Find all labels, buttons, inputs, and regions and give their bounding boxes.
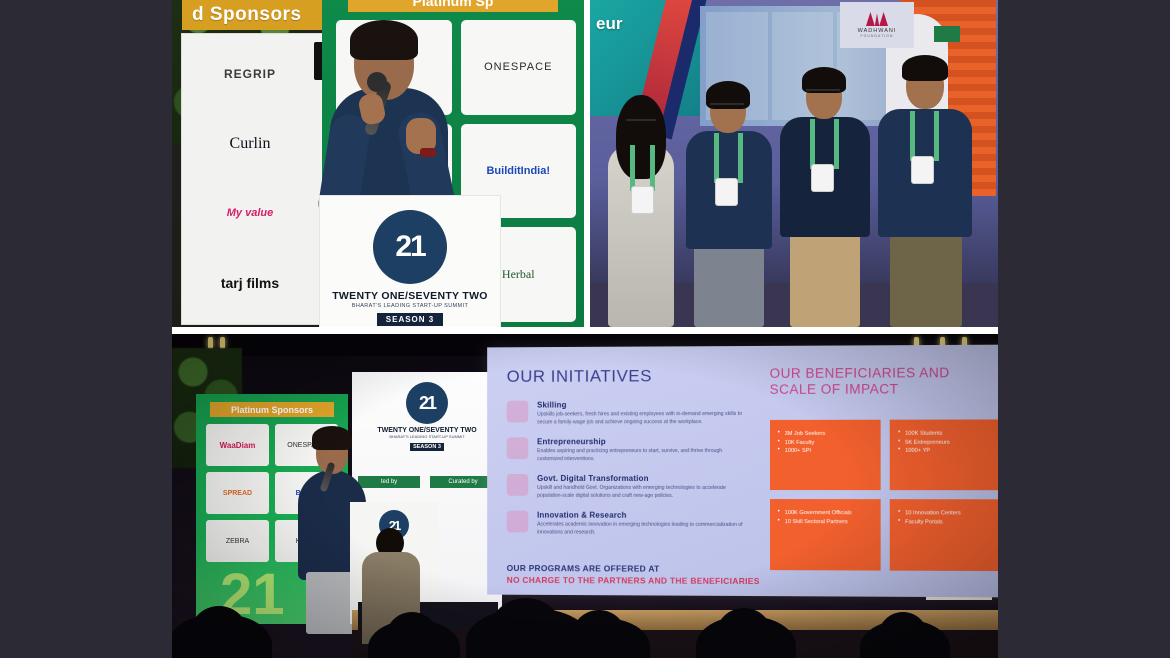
platinum-sponsor-title: Platinum Sponsors (210, 402, 334, 417)
person-2 (682, 73, 774, 327)
person-3 (776, 63, 872, 327)
person-4-lanyard-right (934, 111, 939, 161)
person-2-legs (694, 243, 764, 327)
banner-strip-right: Curated by (430, 476, 496, 488)
sponsor-card-3: SPREAD (206, 472, 269, 514)
slide-heading-initiatives: OUR INITIATIVES (507, 366, 748, 387)
person-3-lanyard-right (834, 119, 839, 169)
beneficiary-item: 10 Innovation Centers (898, 510, 994, 519)
beneficiary-item: 100K Government Officials (778, 509, 873, 518)
wristwatch-icon (420, 148, 436, 157)
initiative-body: Innovation & Research Accelerates academ… (537, 511, 748, 537)
person-1-lanyard-left (630, 145, 635, 191)
beneficiary-box-1: 3M Job Seekers 10K Faculty 1000+ SPI (770, 420, 881, 491)
person-1-hair (616, 95, 666, 179)
green-badge-decor (934, 26, 960, 42)
sponsor-logo-my-value: My value (190, 181, 310, 247)
person-2-lanyard-left (714, 133, 719, 183)
speaker-hair (312, 426, 352, 450)
beneficiary-list: 100K Government Officials 10 Skill Secto… (778, 509, 873, 527)
person-4 (874, 55, 974, 327)
slide-right-column: OUR BENEFICIARIES AND SCALE OF IMPACT 3M… (760, 345, 998, 598)
sponsor-logo-regrip: REGRIP (190, 42, 310, 108)
microphone-head-icon (367, 72, 387, 92)
audience-shoulder-silhouette (172, 614, 272, 658)
slide-heading-beneficiaries-line1: OUR BENEFICIARIES AND (770, 365, 998, 382)
person-4-badge (912, 157, 933, 183)
initiative-body: Govt. Digital Transformation Upskill and… (537, 474, 748, 500)
speaker-hair (350, 20, 418, 60)
sponsor-logo-tarj-films: tarj films (190, 251, 310, 317)
innovation-research-icon (507, 511, 529, 533)
person-3-lanyard-left (810, 119, 815, 169)
person-4-hair (902, 55, 948, 81)
sponsor-card-1: WaaDiam (206, 424, 269, 466)
photo-audience-presentation: Platinum Sponsors WaaDiam ONESPACE SPREA… (172, 334, 998, 658)
collage-top-row: d Sponsors REGRIP DECIM.L Curlin Lexicon… (172, 0, 998, 327)
beneficiary-list: 3M Job Seekers 10K Faculty 1000+ SPI (778, 430, 873, 456)
skilling-icon (507, 401, 529, 423)
person-1 (602, 87, 680, 327)
sponsor-logo-curlin: Curlin (190, 112, 310, 178)
audience-area (172, 562, 998, 658)
wadhwani-foundation-logo: WADHWANI FOUNDATION (840, 2, 914, 48)
slide-heading-beneficiaries-line2: SCALE OF IMPACT (770, 381, 998, 398)
person-3-glasses-icon (806, 89, 840, 96)
event-logo-line1: TWENTY ONE/SEVENTY TWO (352, 427, 502, 434)
initiative-desc: Enables aspiring and practicing entrepre… (537, 448, 748, 463)
initiative-item: Skilling Upskills job-seekers, fresh hir… (507, 400, 748, 427)
initiative-desc: Accelerates academic innovation in emerg… (537, 522, 748, 538)
event-logo-mark: 21 (406, 382, 448, 424)
person-2-glasses-icon (710, 103, 744, 110)
slide-columns: OUR INITIATIVES Skilling Upskills job-se… (487, 345, 998, 598)
initiative-title: Skilling (537, 400, 748, 410)
beneficiary-list: 10 Innovation Centers Faculty Portals (898, 510, 994, 528)
photo-collage: d Sponsors REGRIP DECIM.L Curlin Lexicon… (172, 0, 998, 658)
person-2-badge (716, 179, 737, 205)
initiative-title: Govt. Digital Transformation (537, 474, 748, 483)
sponsor-card-5: ZEBRA (206, 520, 269, 562)
screenshot-canvas: d Sponsors REGRIP DECIM.L Curlin Lexicon… (0, 0, 1170, 658)
beneficiary-item: 10K Faculty (778, 438, 873, 447)
podium: 21 TWENTY ONE/SEVENTY TWO BHARAT'S LEADI… (320, 196, 500, 327)
person-1-glasses-icon (626, 119, 656, 126)
beneficiary-item: 1000+ SPI (778, 447, 873, 456)
sponsor-card-onespace: ONESPACE (461, 20, 577, 115)
beneficiary-list: 100K Students 5K Entrepreneurs 1000+ YP (898, 429, 994, 455)
initiative-title: Entrepreneurship (537, 437, 748, 446)
entrepreneurship-icon (507, 437, 529, 459)
beneficiary-item: 10 Skill Sectoral Partners (778, 518, 873, 527)
wadhwani-subtitle: FOUNDATION (861, 34, 894, 38)
event-logo-line2: BHARAT'S LEADING START-UP SUMMIT (352, 434, 502, 439)
beneficiary-box-3: 100K Government Officials 10 Skill Secto… (770, 499, 881, 570)
initiative-desc: Upskill and handhold Govt. Organizations… (537, 485, 748, 500)
event-logo-mark: 21 (373, 210, 447, 284)
platinum-sponsor-title: Platinum Sp (348, 0, 558, 12)
person-1-badge (632, 187, 653, 213)
event-logo-season-badge: SEASON 3 (377, 313, 443, 326)
projection-screen: OUR INITIATIVES Skilling Upskills job-se… (487, 345, 998, 598)
event-logo-season-badge: SEASON 3 (410, 443, 444, 451)
beneficiary-box-4: 10 Innovation Centers Faculty Portals (890, 500, 998, 571)
beneficiary-item: 3M Job Seekers (778, 430, 873, 439)
horizontal-seam (172, 327, 998, 334)
govt-digital-icon (507, 474, 529, 496)
initiative-item: Entrepreneurship Enables aspiring and pr… (507, 437, 748, 463)
person-1-lanyard-right (650, 145, 655, 191)
person-4-lanyard-left (910, 111, 915, 161)
event-logo-line1: TWENTY ONE/SEVENTY TWO (320, 290, 500, 302)
beneficiary-box-2: 100K Students 5K Entrepreneurs 1000+ YP (890, 419, 998, 490)
backdrop-text: eur (596, 14, 622, 34)
event-logo-line2: BHARAT'S LEADING START-UP SUMMIT (320, 303, 500, 309)
initiative-desc: Upskills job-seekers, fresh hires and ex… (537, 411, 748, 426)
initiative-body: Entrepreneurship Enables aspiring and pr… (537, 437, 748, 463)
person-4-legs (890, 231, 962, 327)
photo-group-of-four: eur WADHWANI FOUNDAT (590, 0, 998, 327)
beneficiaries-grid: 3M Job Seekers 10K Faculty 1000+ SPI 100… (770, 419, 998, 571)
wadhwani-mark-icon (866, 12, 888, 26)
person-3-legs (790, 231, 860, 327)
podium-logo: 21 TWENTY ONE/SEVENTY TWO BHARAT'S LEADI… (320, 210, 500, 327)
beneficiary-item: 100K Students (898, 429, 994, 438)
initiative-item: Govt. Digital Transformation Upskill and… (507, 474, 748, 500)
person-3-badge (812, 165, 833, 191)
beneficiary-item: 5K Entrepreneurs (898, 438, 994, 447)
beneficiary-item: 1000+ YP (898, 447, 994, 456)
initiatives-list: Skilling Upskills job-seekers, fresh hir… (507, 400, 748, 537)
photo-speaker-at-podium: d Sponsors REGRIP DECIM.L Curlin Lexicon… (172, 0, 584, 327)
initiative-title: Innovation & Research (537, 511, 748, 520)
person-2-lanyard-right (738, 133, 743, 183)
beneficiary-item: Faculty Portals (898, 518, 994, 527)
initiative-item: Innovation & Research Accelerates academ… (507, 511, 748, 537)
slide-left-column: OUR INITIATIVES Skilling Upskills job-se… (487, 346, 759, 596)
initiative-body: Skilling Upskills job-seekers, fresh hir… (537, 400, 748, 426)
